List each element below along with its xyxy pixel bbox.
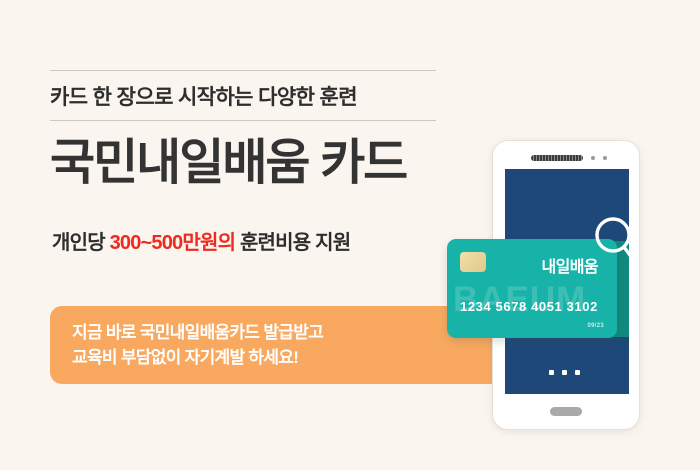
subtitle: 개인당 300~500만원의 훈련비용 지원 (52, 226, 350, 255)
promo-banner: 카드 한 장으로 시작하는 다양한 훈련 국민내일배움 카드 개인당 300~5… (0, 0, 700, 470)
phone-speaker-icon (531, 155, 583, 161)
dot (575, 370, 580, 375)
tagline-text: 카드 한 장으로 시작하는 다양한 훈련 (50, 81, 357, 111)
credit-card: BAEUM 내일배움 1234 5678 4051 3102 09/23 (447, 239, 617, 338)
callout-box: 지금 바로 국민내일배움카드 발급받고 교육비 부담없이 자기계발 하세요! (50, 306, 500, 384)
card-brand-label: 내일배움 (542, 253, 598, 277)
dot (549, 370, 554, 375)
callout-line-2: 교육비 부담없이 자기계발 하세요! (72, 345, 500, 370)
card-number: 1234 5678 4051 3102 (460, 299, 598, 314)
dot (562, 370, 567, 375)
card-expiry: 09/23 (587, 323, 604, 329)
subtitle-amount: 300~500만원의 (110, 232, 236, 254)
search-icon (593, 216, 639, 268)
phone-screen-dots-icon (549, 370, 580, 375)
subtitle-suffix: 훈련비용 지원 (235, 232, 350, 254)
subtitle-prefix: 개인당 (52, 232, 110, 254)
page-title: 국민내일배움 카드 (50, 138, 406, 190)
phone-sensor-icon (603, 156, 607, 160)
phone-home-button (550, 407, 582, 416)
tagline-rule-block: 카드 한 장으로 시작하는 다양한 훈련 (50, 70, 436, 121)
phone-camera-icon (591, 156, 595, 160)
card-chip-icon (460, 252, 486, 272)
callout-line-1: 지금 바로 국민내일배움카드 발급받고 (72, 320, 500, 345)
